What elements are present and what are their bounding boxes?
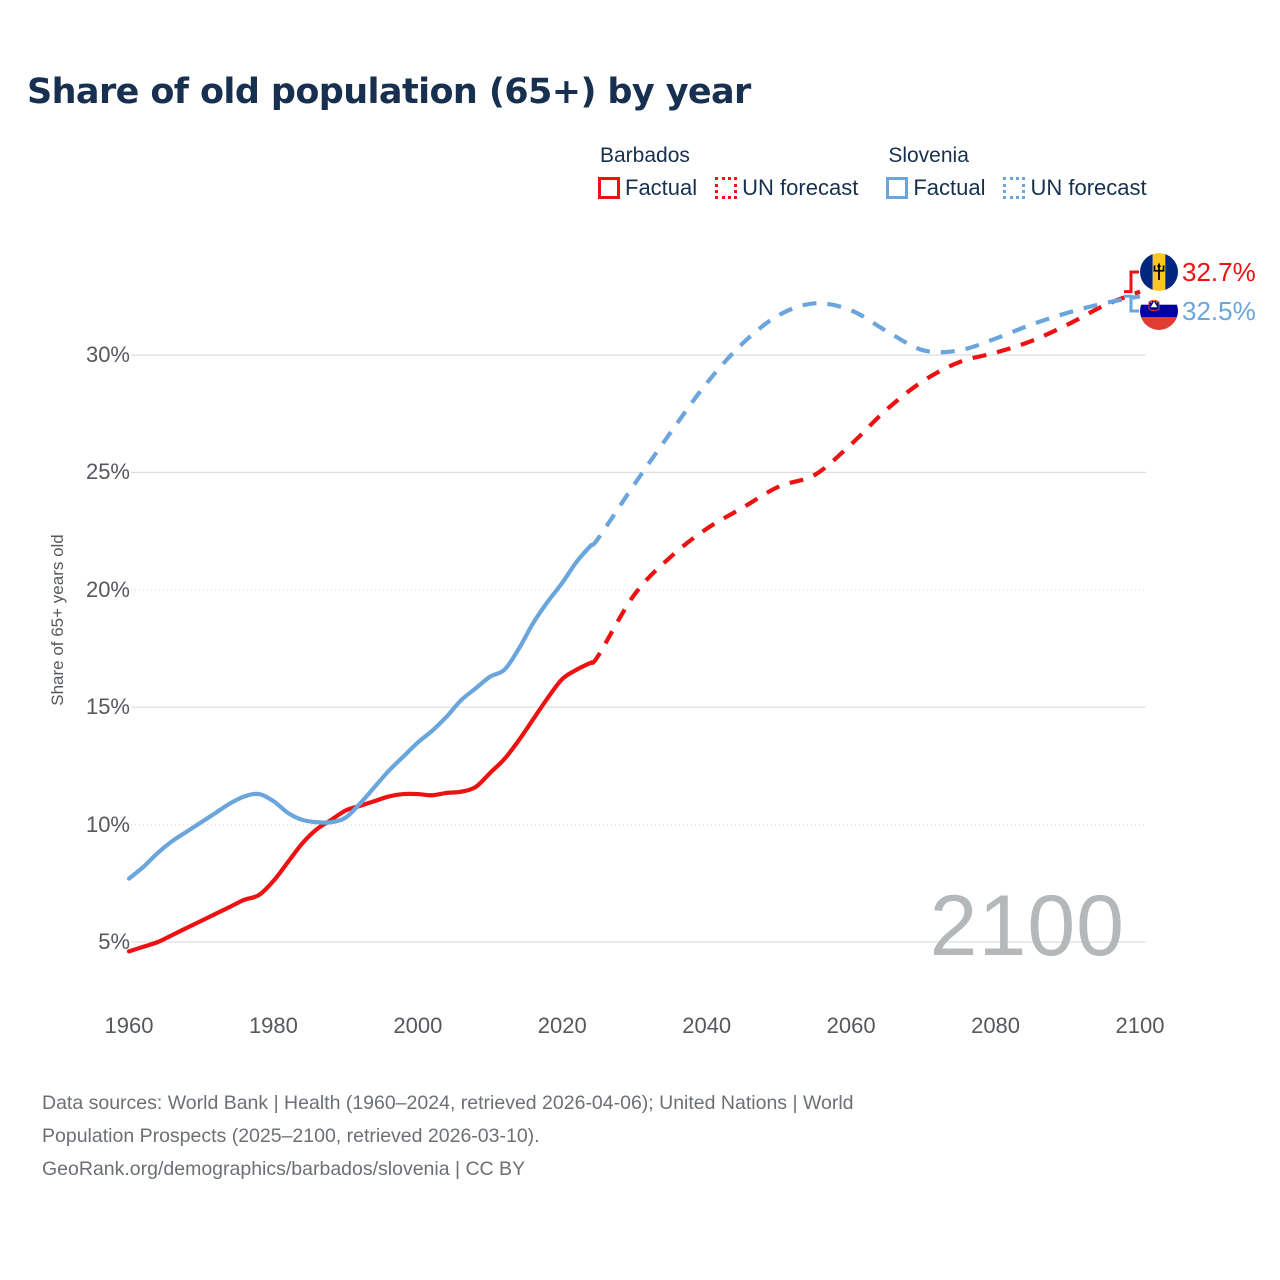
- chart-legend: BarbadosFactualUN forecastSloveniaFactua…: [598, 144, 1147, 201]
- y-tick-label: 30%: [30, 342, 130, 368]
- endpoint-badge-slovenia[interactable]: 32.5%: [1140, 292, 1256, 330]
- footer-line-3: GeoRank.org/demographics/barbados/sloven…: [42, 1153, 1192, 1186]
- legend-item-slovenia-solid[interactable]: Factual: [886, 175, 985, 201]
- x-tick-label: 2000: [393, 1013, 442, 1039]
- legend-swatch-solid-red-icon: [598, 177, 620, 199]
- series-line-factual: [129, 663, 591, 952]
- x-tick-label: 2060: [827, 1013, 876, 1039]
- footer-attribution: Data sources: World Bank | Health (1960–…: [42, 1087, 1192, 1186]
- series-line-forecast: [591, 292, 1140, 663]
- x-tick-label: 1980: [249, 1013, 298, 1039]
- x-tick-label: 2100: [1116, 1013, 1165, 1039]
- legend-row: FactualUN forecast: [886, 175, 1146, 201]
- series-line-factual: [129, 545, 591, 878]
- legend-swatch-dotted-blue-icon: [1003, 177, 1025, 199]
- endpoint-value-label: 32.7%: [1182, 257, 1256, 288]
- y-tick-label: 20%: [30, 577, 130, 603]
- barbados-flag-icon: [1140, 253, 1178, 291]
- endpoint-connector-slovenia: [1124, 296, 1139, 311]
- y-axis-label: Share of 65+ years old: [48, 520, 68, 720]
- legend-row: FactualUN forecast: [598, 175, 858, 201]
- y-tick-label: 25%: [30, 459, 130, 485]
- slovenia-flag-icon: [1140, 292, 1178, 330]
- legend-item-slovenia-dotted[interactable]: UN forecast: [1003, 175, 1146, 201]
- series-barbados: [129, 292, 1140, 952]
- x-tick-label: 2040: [682, 1013, 731, 1039]
- legend-item-label: UN forecast: [1030, 175, 1146, 201]
- legend-item-label: Factual: [625, 175, 697, 201]
- legend-swatch-solid-blue-icon: [886, 177, 908, 199]
- legend-group-slovenia: SloveniaFactualUN forecast: [886, 144, 1146, 201]
- series-line-forecast: [591, 296, 1140, 545]
- footer-line-2: Population Prospects (2025–2100, retriev…: [42, 1120, 1192, 1153]
- series-slovenia: [129, 296, 1140, 878]
- y-tick-label: 5%: [30, 929, 130, 955]
- legend-item-barbados-dotted[interactable]: UN forecast: [715, 175, 858, 201]
- y-tick-label: 15%: [30, 694, 130, 720]
- footer-line-1: Data sources: World Bank | Health (1960–…: [42, 1087, 1192, 1120]
- legend-group-barbados: BarbadosFactualUN forecast: [598, 144, 858, 201]
- legend-item-label: UN forecast: [742, 175, 858, 201]
- x-tick-label: 2020: [538, 1013, 587, 1039]
- endpoint-badge-barbados[interactable]: 32.7%: [1140, 253, 1256, 291]
- x-tick-label: 2080: [971, 1013, 1020, 1039]
- x-tick-label: 1960: [105, 1013, 154, 1039]
- legend-item-barbados-solid[interactable]: Factual: [598, 175, 697, 201]
- y-tick-label: 10%: [30, 812, 130, 838]
- year-watermark: 2100: [930, 883, 1125, 969]
- legend-swatch-dotted-red-icon: [715, 177, 737, 199]
- y-gridlines: [131, 355, 1146, 942]
- endpoint-connector-barbados: [1124, 272, 1139, 292]
- page-title: Share of old population (65+) by year: [27, 72, 751, 112]
- endpoint-value-label: 32.5%: [1182, 296, 1256, 327]
- legend-country-label: Slovenia: [886, 144, 1146, 168]
- legend-item-label: Factual: [913, 175, 985, 201]
- legend-country-label: Barbados: [598, 144, 858, 168]
